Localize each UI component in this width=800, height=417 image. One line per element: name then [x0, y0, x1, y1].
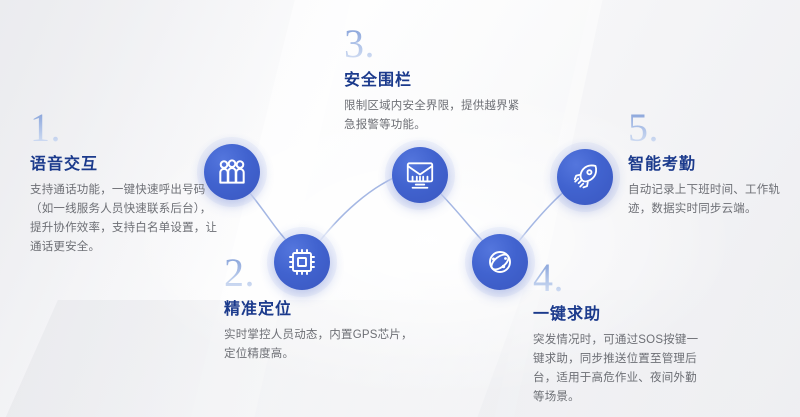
feature-block-2: 2. 精准定位 实时掌控人员动态，内置GPS芯片，定位精度高。 — [224, 253, 416, 364]
feature-icon-4[interactable] — [472, 234, 528, 290]
feature-title-5: 智能考勤 — [628, 150, 788, 174]
feature-description-1: 支持通话功能，一键快速呼出号码（如一线服务人员快速联系后台），提升协作效率，支持… — [30, 181, 220, 257]
feature-title-3: 安全围栏 — [344, 66, 522, 90]
people-group-icon — [215, 155, 249, 189]
feature-description-4: 突发情况时，可通过SOS按键一键求助，同步推送位置至管理后台，适用于高危作业、夜… — [533, 331, 701, 407]
infographic-canvas: 1. 语音交互 支持通话功能，一键快速呼出号码（如一线服务人员快速联系后台），提… — [0, 0, 800, 417]
feature-description-2: 实时掌控人员动态，内置GPS芯片，定位精度高。 — [224, 326, 416, 364]
feature-title-1: 语音交互 — [30, 150, 220, 174]
monitor-fence-icon — [403, 158, 437, 192]
feature-title-4: 一键求助 — [533, 300, 701, 324]
feature-number-5: 5. — [628, 108, 788, 148]
feature-number-1: 1. — [30, 108, 220, 148]
globe-network-icon — [484, 246, 516, 278]
rocket-icon — [569, 161, 601, 193]
feature-number-4: 4. — [533, 258, 701, 298]
feature-icon-5[interactable] — [557, 149, 613, 205]
feature-description-5: 自动记录上下班时间、工作轨迹，数据实时同步云端。 — [628, 181, 788, 219]
feature-number-2: 2. — [224, 253, 416, 293]
feature-title-2: 精准定位 — [224, 295, 416, 319]
feature-icon-3[interactable] — [392, 147, 448, 203]
feature-block-4: 4. 一键求助 突发情况时，可通过SOS按键一键求助，同步推送位置至管理后台，适… — [533, 258, 701, 407]
feature-number-3: 3. — [344, 24, 522, 64]
feature-block-3: 3. 安全围栏 限制区域内安全界限，提供越界紧急报警等功能。 — [344, 24, 522, 135]
feature-block-5: 5. 智能考勤 自动记录上下班时间、工作轨迹，数据实时同步云端。 — [628, 108, 788, 219]
feature-block-1: 1. 语音交互 支持通话功能，一键快速呼出号码（如一线服务人员快速联系后台），提… — [30, 108, 220, 257]
feature-description-3: 限制区域内安全界限，提供越界紧急报警等功能。 — [344, 97, 522, 135]
